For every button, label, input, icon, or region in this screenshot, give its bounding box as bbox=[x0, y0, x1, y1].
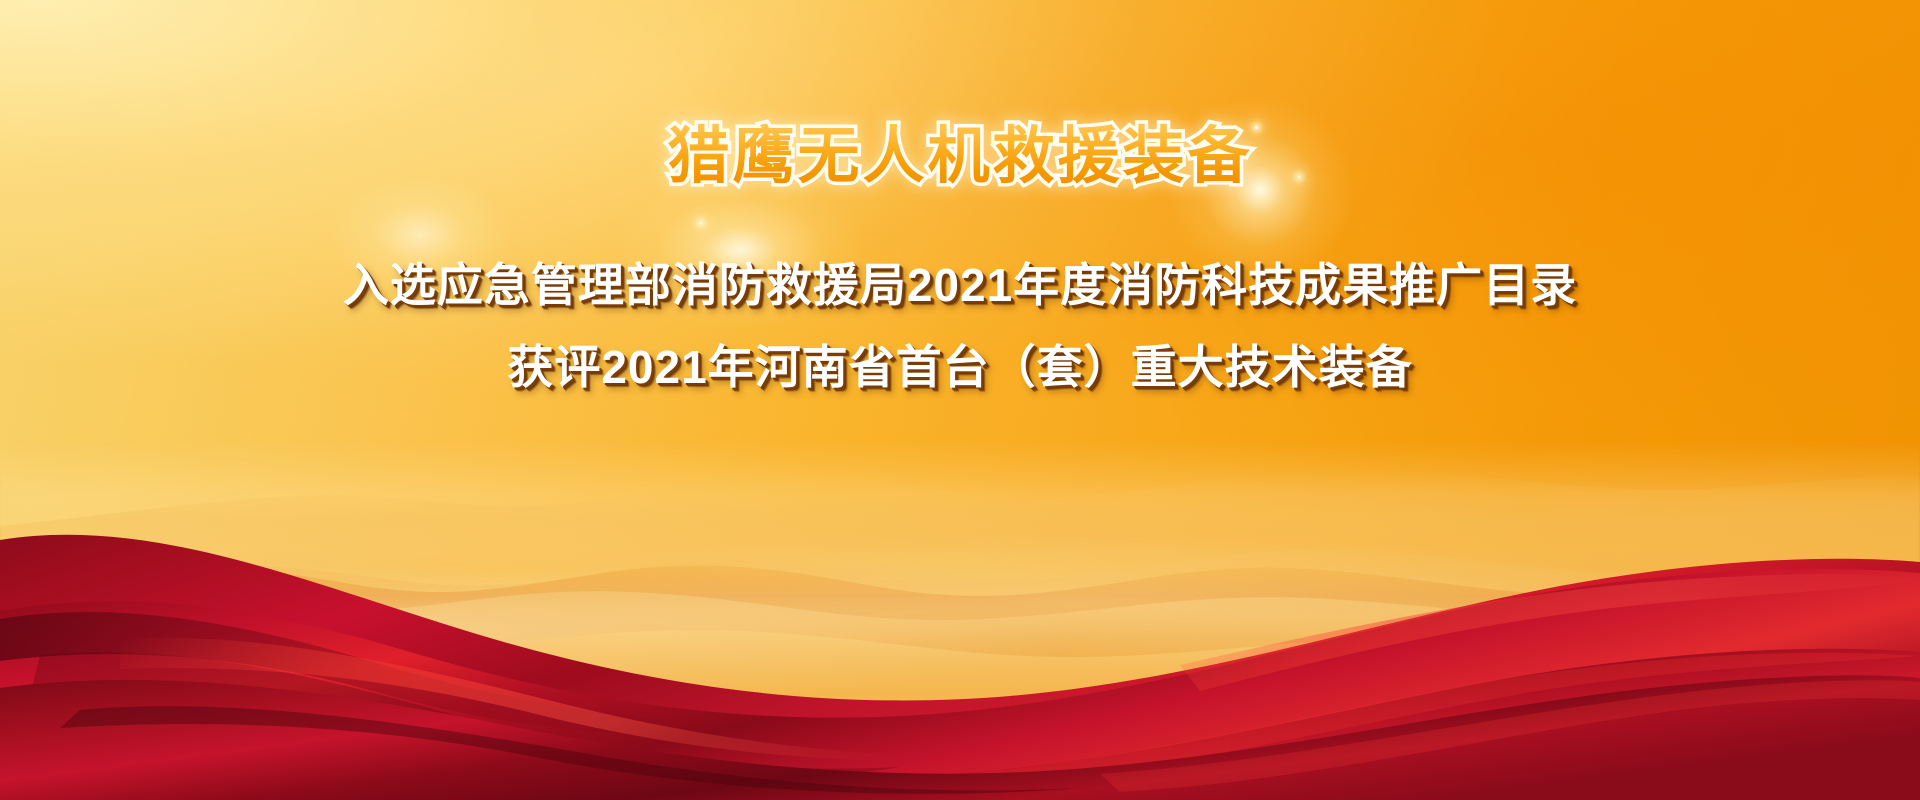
main-title-fill-layer: 猎鹰无人机救援装备 bbox=[667, 122, 1252, 191]
main-title-wrapper: 猎鹰无人机救援装备 猎鹰无人机救援装备 猎鹰无人机救援装备 bbox=[0, 126, 1920, 188]
red-silk-ribbon-bottom bbox=[0, 640, 1920, 800]
main-title: 猎鹰无人机救援装备 猎鹰无人机救援装备 猎鹰无人机救援装备 bbox=[667, 126, 1252, 188]
subtitle-line-2: 获评2021年河南省首台（套）重大技术装备 bbox=[0, 331, 1920, 397]
subtitle-line-1: 入选应急管理部消防救援局2021年度消防科技成果推广目录 bbox=[0, 249, 1920, 315]
promo-banner: 猎鹰无人机救援装备 猎鹰无人机救援装备 猎鹰无人机救援装备 入选应急管理部消防救… bbox=[0, 0, 1920, 800]
